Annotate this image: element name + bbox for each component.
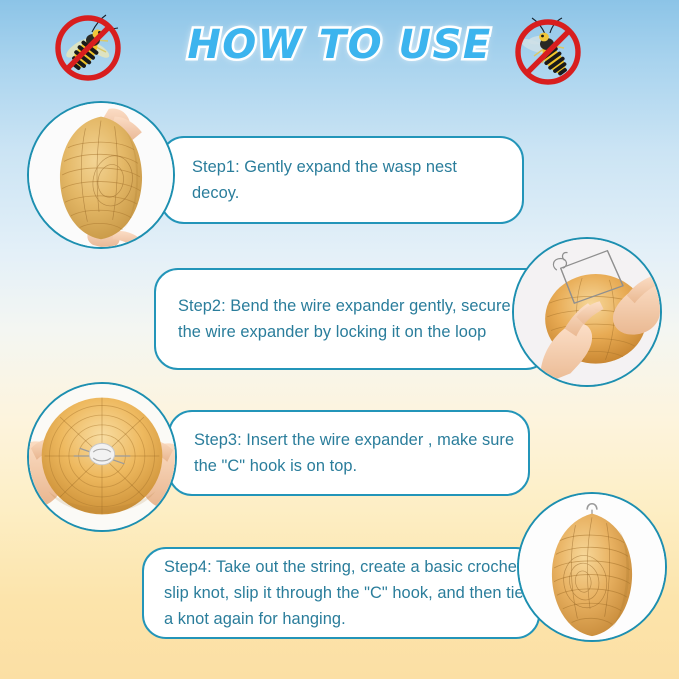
- step3-photo: [27, 382, 177, 532]
- step2-photo: [512, 237, 662, 387]
- no-wasp-icon: [52, 12, 124, 84]
- step3-box: Step3: Insert the wire expander , make s…: [168, 410, 530, 496]
- step1-photo: [27, 101, 175, 249]
- step4-text: Step4: Take out the string, create a bas…: [144, 554, 538, 632]
- how-to-use-poster: HOW TO USE: [0, 0, 679, 679]
- step1-box: Step1: Gently expand the wasp nest decoy…: [160, 136, 524, 224]
- no-wasp-badge-left: [52, 12, 124, 84]
- step3-text: Step3: Insert the wire expander , make s…: [170, 427, 528, 479]
- no-wasp-icon: [512, 16, 584, 88]
- step2-text: Step2: Bend the wire expander gently, se…: [156, 293, 548, 345]
- step1-text: Step1: Gently expand the wasp nest decoy…: [162, 154, 522, 206]
- step4-photo: [517, 492, 667, 642]
- step4-box: Step4: Take out the string, create a bas…: [142, 547, 540, 639]
- step2-box: Step2: Bend the wire expander gently, se…: [154, 268, 550, 370]
- no-wasp-badge-right: [512, 16, 584, 88]
